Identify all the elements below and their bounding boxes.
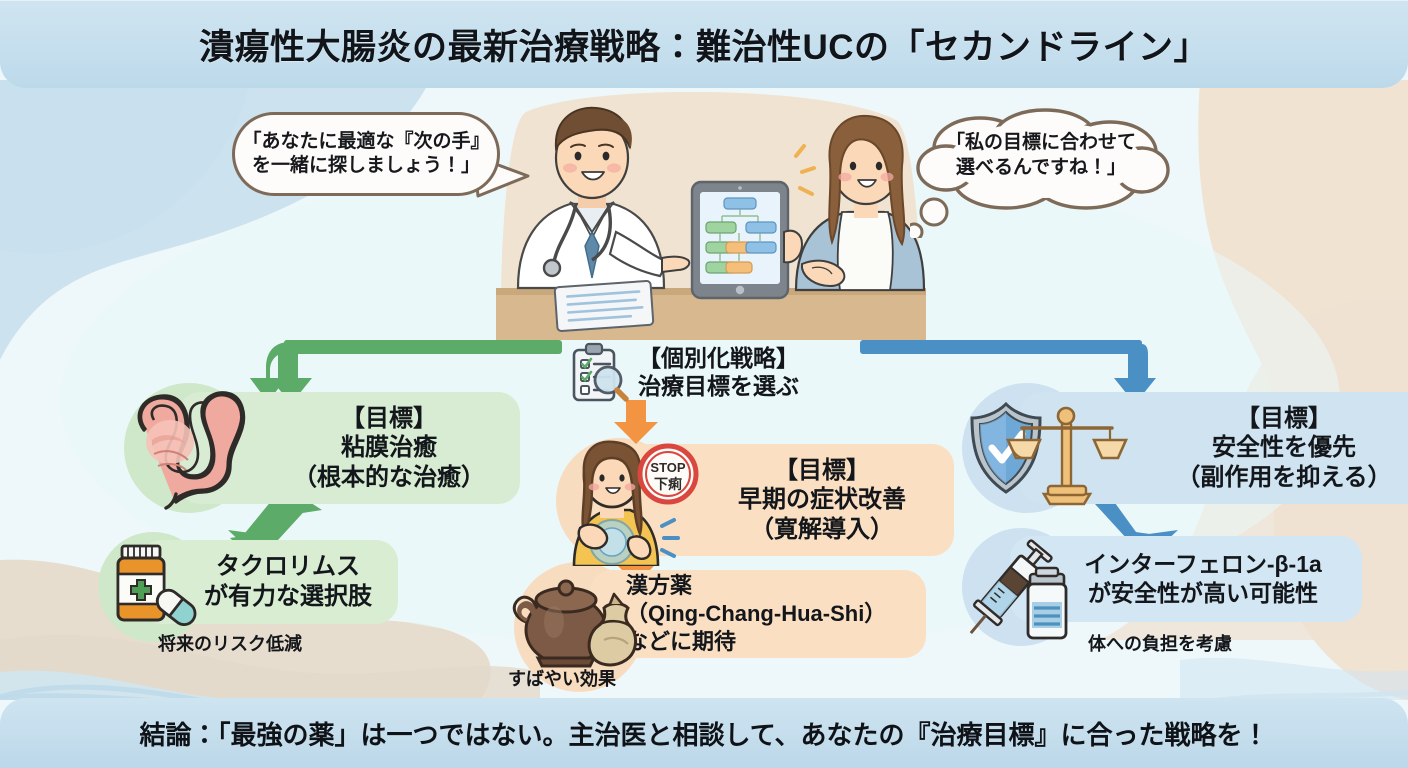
left-goal-line3: （根本的な治癒） bbox=[293, 463, 485, 492]
doctor-bubble-line1: 「あなたに最適な『次の手』 bbox=[242, 130, 489, 154]
doctor-bubble-line2: を一緒に探しましょう！」 bbox=[252, 154, 480, 178]
right-goal-line3: （副作用を抑える） bbox=[1176, 463, 1391, 492]
center-strategy-header: 【個別化戦略】 治療目標を選ぶ bbox=[566, 342, 866, 404]
patient-stomach-stop-icon: STOP 下痢 bbox=[556, 438, 702, 571]
right-goal-line2: 安全性を優先 bbox=[1212, 433, 1356, 462]
consultation-illustration bbox=[496, 92, 926, 340]
stop-label-bottom: 下痢 bbox=[654, 476, 682, 492]
infographic-canvas: 潰瘍性大腸炎の最新治療戦略：難治性UCの「セカンドライン」 bbox=[0, 0, 1408, 768]
medicine-bottle-icon bbox=[100, 534, 204, 643]
patient-thought-bubble: 「私の目標に合わせて 選べるんですね！」 bbox=[910, 116, 1172, 212]
stop-label-top: STOP bbox=[650, 460, 685, 475]
doctor-speech-bubble: 「あなたに最適な『次の手』 を一緒に探しましょう！」 bbox=[232, 112, 500, 196]
left-option-line2: が有力な選択肢 bbox=[204, 582, 372, 612]
clipboard-on-desk bbox=[555, 281, 654, 332]
right-goal-line1: 【目標】 bbox=[1236, 404, 1332, 433]
left-goal-line1: 【目標】 bbox=[341, 404, 437, 433]
center-header-line2: 治療目標を選ぶ bbox=[638, 373, 799, 401]
footer-banner: 結論：「最強の薬」は一つではない。主治医と相談して、あなたの『治療目標』に合った… bbox=[0, 698, 1408, 768]
clipboard-magnifier-icon bbox=[566, 342, 630, 404]
right-option-line2: が安全性が高い可能性 bbox=[1088, 579, 1318, 608]
shield-scales-icon bbox=[962, 386, 1128, 517]
tablet-with-flowchart bbox=[692, 182, 788, 298]
page-title: 潰瘍性大腸炎の最新治療戦略：難治性UCの「セカンドライン」 bbox=[199, 19, 1209, 70]
center-goal-line1: 【目標】 bbox=[774, 456, 870, 485]
header-banner: 潰瘍性大腸炎の最新治療戦略：難治性UCの「セカンドライン」 bbox=[0, 0, 1408, 88]
right-option-line1: インターフェロン-β-1a bbox=[1084, 550, 1322, 579]
center-option-line2: （Qing-Chang-Hua-Shi） bbox=[626, 600, 886, 628]
left-goal-line2: 粘膜治癒 bbox=[341, 433, 437, 462]
center-goal-line2: 早期の症状改善 bbox=[738, 485, 906, 514]
left-option-line1: タクロリムス bbox=[216, 552, 360, 582]
right-caption: 体への負担を考慮 bbox=[1088, 630, 1232, 656]
intestine-icon bbox=[124, 386, 252, 515]
patient-bubble-line1: 「私の目標に合わせて bbox=[946, 131, 1136, 156]
syringe-vial-icon bbox=[960, 528, 1084, 651]
conclusion-text: 結論：「最強の薬」は一つではない。主治医と相談して、あなたの『治療目標』に合った… bbox=[140, 715, 1269, 752]
patient-bubble-line2: 選べるんですね！」 bbox=[956, 156, 1126, 181]
center-caption: すばやい効果 bbox=[508, 665, 616, 691]
left-caption: 将来のリスク低減 bbox=[158, 630, 302, 656]
center-goal-line3: （寛解導入） bbox=[750, 515, 894, 544]
center-header-line1: 【個別化戦略】 bbox=[638, 345, 799, 373]
